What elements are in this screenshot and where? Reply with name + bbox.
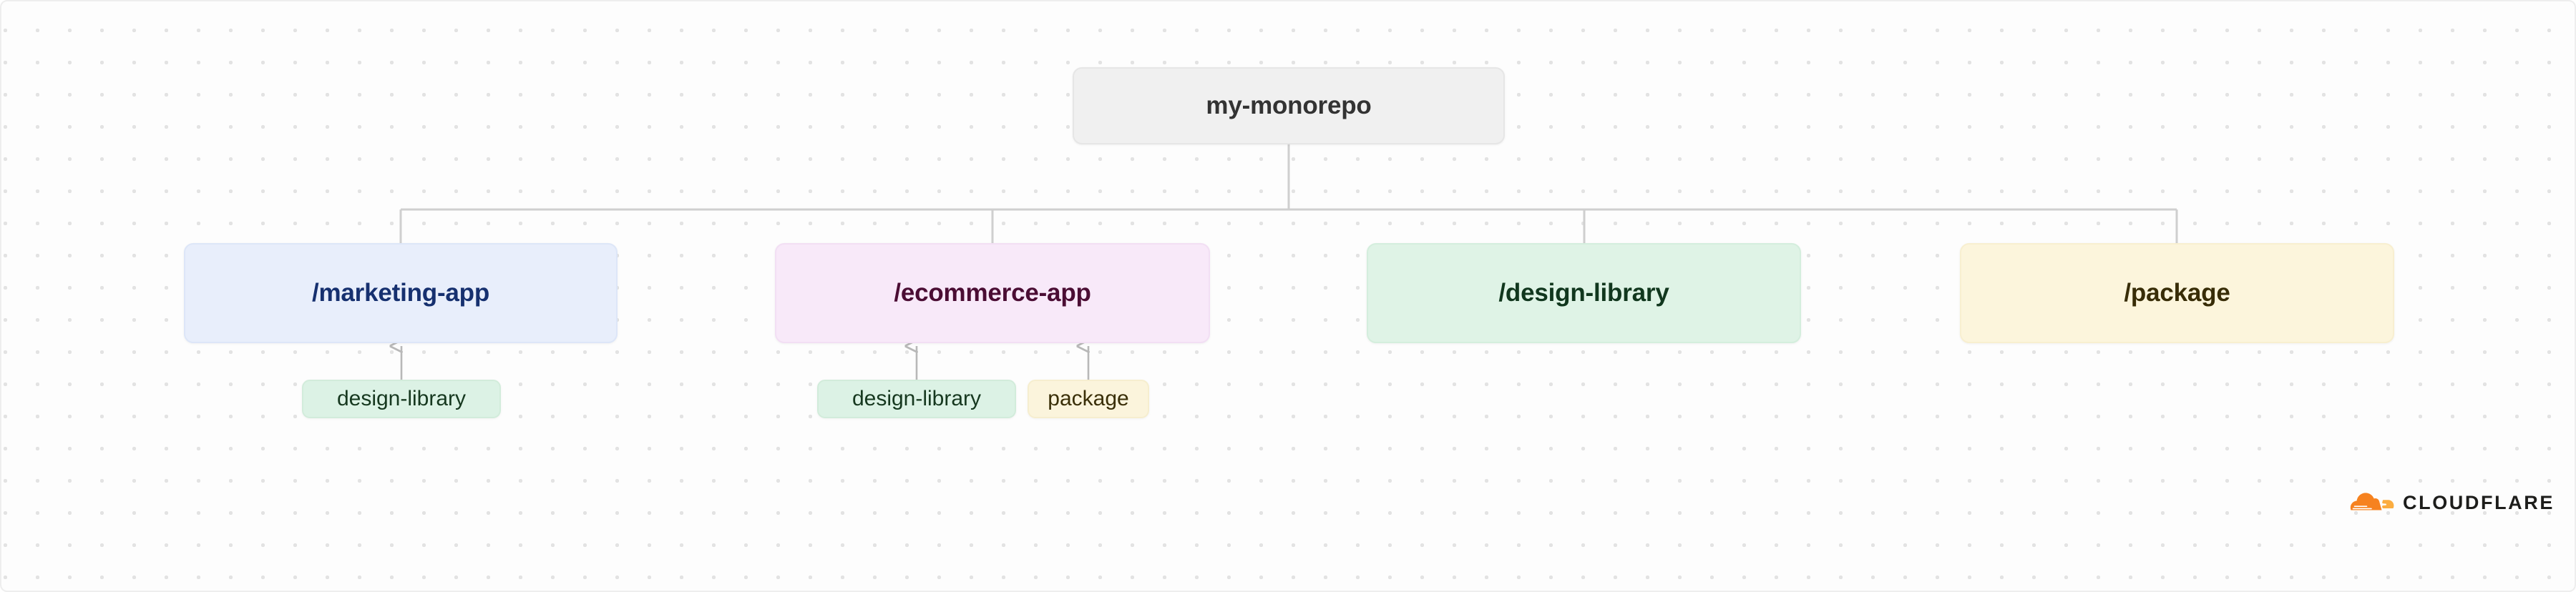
dependency-tag-label: design-library [337,387,466,411]
diagram-canvas[interactable]: my-monorepo /marketing-app /ecommerce-ap… [0,0,2576,592]
cloudflare-cloud-icon [2350,492,2394,513]
dependency-tag-label: design-library [852,387,981,411]
node-marketing-app[interactable]: /marketing-app [184,243,618,343]
node-ecommerce-app[interactable]: /ecommerce-app [775,243,1210,343]
node-label: /marketing-app [312,279,489,307]
dependency-tag-ecommerce-package[interactable]: package [1028,380,1149,418]
node-label: /ecommerce-app [894,279,1091,307]
node-package[interactable]: /package [1960,243,2394,343]
node-label: /package [2124,279,2230,307]
node-label: my-monorepo [1206,92,1371,120]
dependency-tag-ecommerce-design-library[interactable]: design-library [817,380,1016,418]
cloudflare-wordmark: CLOUDFLARE [2403,493,2555,513]
dependency-tag-label: package [1048,387,1128,411]
node-label: /design-library [1498,279,1669,307]
cloudflare-brand: CLOUDFLARE [2350,492,2555,513]
dependency-tag-marketing-design-library[interactable]: design-library [302,380,501,418]
node-my-monorepo[interactable]: my-monorepo [1073,67,1505,144]
node-design-library[interactable]: /design-library [1367,243,1801,343]
